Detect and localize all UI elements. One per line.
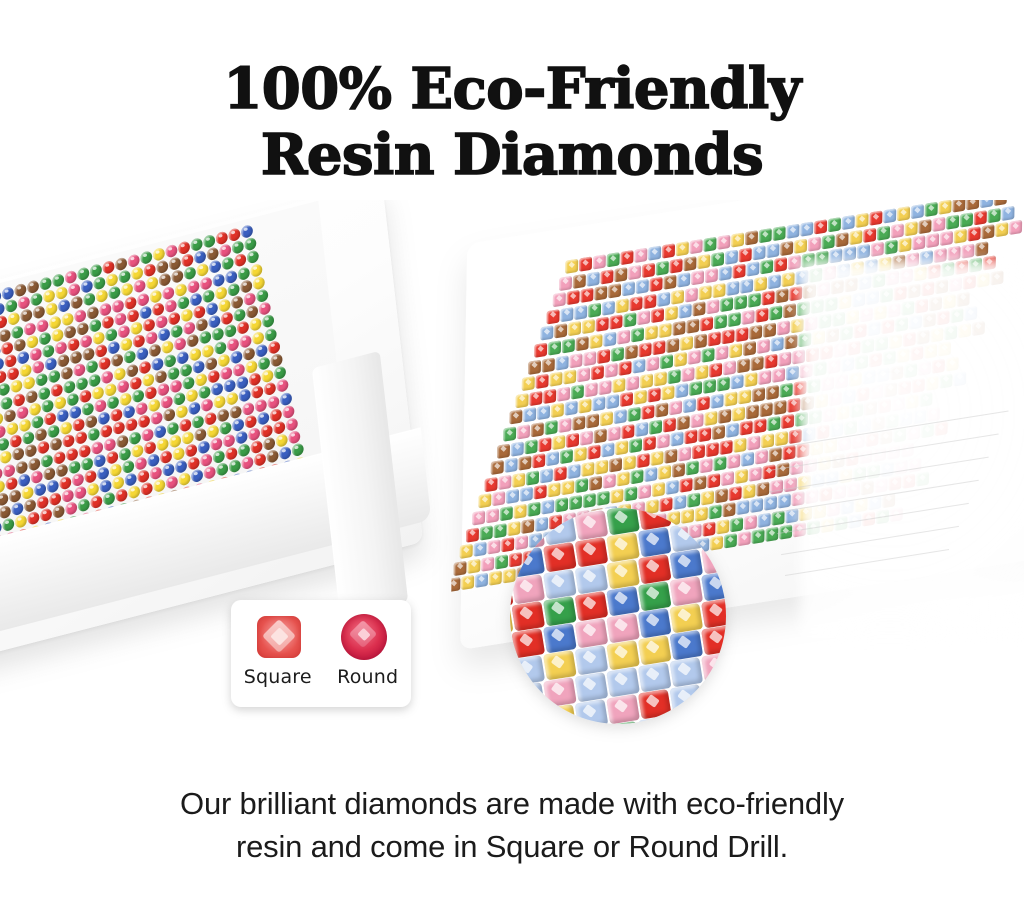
zoom-drill-square <box>543 650 577 680</box>
drill-square <box>548 340 561 355</box>
drill-square <box>495 554 508 569</box>
drill-square <box>542 357 555 372</box>
drill-square <box>520 487 533 502</box>
drill-square <box>577 367 590 382</box>
drill-square <box>472 510 485 525</box>
drill-square <box>648 388 661 403</box>
drill-square <box>891 223 904 238</box>
drill-square <box>651 308 664 323</box>
drill-square <box>786 366 799 381</box>
zoom-drill-square <box>575 591 609 621</box>
drill-square <box>624 486 637 501</box>
page-title: 100% Eco-Friendly Resin Diamonds <box>0 56 1024 188</box>
drill-square <box>975 241 988 256</box>
drill-square <box>731 232 744 247</box>
drill-square <box>713 456 726 471</box>
drill-type-gems <box>231 612 411 664</box>
drill-square <box>686 461 699 476</box>
drill-square <box>595 459 608 474</box>
drill-square <box>582 319 595 334</box>
drill-square <box>517 424 530 439</box>
drill-square <box>619 361 632 376</box>
drill-square <box>912 235 925 250</box>
drill-square <box>527 502 540 517</box>
drill-square <box>883 208 896 223</box>
drill-square <box>600 269 613 284</box>
drill-square <box>617 329 630 344</box>
drill-square <box>800 221 813 236</box>
drill-square <box>480 525 493 540</box>
drill-square <box>614 267 627 282</box>
drill-square <box>905 221 918 236</box>
drill-square <box>583 493 596 508</box>
zoom-drill-square <box>638 608 672 638</box>
drill-square <box>583 351 596 366</box>
drill-square <box>528 359 541 374</box>
drill-square <box>692 444 705 459</box>
drill-square <box>960 212 973 227</box>
drill-square <box>782 272 795 287</box>
drill-square <box>537 405 550 420</box>
zoom-drill-square <box>669 549 703 579</box>
drill-square <box>777 320 790 335</box>
drill-square <box>642 262 655 277</box>
drill-square <box>657 434 670 449</box>
drill-square <box>683 256 696 271</box>
drill-square <box>578 399 591 414</box>
drill-square <box>722 329 735 344</box>
drill-square <box>605 363 618 378</box>
drill-square <box>631 327 644 342</box>
zoom-drill-square <box>543 704 577 724</box>
drill-square <box>671 432 684 447</box>
drill-square <box>549 372 562 387</box>
zoom-drill-square <box>511 547 545 577</box>
drill-square <box>697 396 710 411</box>
drill-square <box>828 217 841 232</box>
drill-square <box>695 364 708 379</box>
drill-square <box>540 326 553 341</box>
zoom-drill-square <box>606 586 640 616</box>
zoom-drill-square <box>543 677 577 707</box>
drill-square <box>591 365 604 380</box>
drill-square <box>620 392 633 407</box>
drill-square <box>687 492 700 507</box>
drill-square <box>657 292 670 307</box>
drill-square <box>961 243 974 258</box>
drill-square <box>767 416 780 431</box>
drill-square <box>666 337 679 352</box>
drill-square <box>509 410 522 425</box>
drill-square <box>628 265 641 280</box>
drill-square <box>554 324 567 339</box>
drill-square <box>694 333 707 348</box>
zoom-drill-square <box>606 667 640 697</box>
zoom-drill-square <box>511 520 545 550</box>
drill-square <box>610 488 623 503</box>
zoom-drill-square <box>638 635 672 665</box>
drill-square <box>540 468 553 483</box>
drill-square <box>780 240 793 255</box>
drill-square <box>573 273 586 288</box>
zoom-drill-square <box>543 569 577 599</box>
drill-square <box>661 386 674 401</box>
drill-square <box>760 402 773 417</box>
zoom-drill-square <box>701 598 726 628</box>
drill-square <box>652 340 665 355</box>
drill-square <box>721 471 734 486</box>
tray-highlight-glare <box>800 260 1024 640</box>
drill-type-labels: Square Round <box>231 666 411 688</box>
drill-square <box>616 298 629 313</box>
zoom-drill-square <box>606 640 640 670</box>
drill-square <box>617 472 630 487</box>
drill-square <box>634 390 647 405</box>
drill-square <box>954 229 967 244</box>
drill-square <box>717 377 730 392</box>
drill-square <box>671 289 684 304</box>
drill-square <box>742 310 755 325</box>
drill-square <box>558 418 571 433</box>
drill-square <box>700 316 713 331</box>
drill-square <box>757 339 770 354</box>
drill-square <box>741 452 754 467</box>
zoom-drill-square <box>606 694 640 724</box>
drill-square <box>764 354 777 369</box>
zoom-drill-square <box>575 618 609 648</box>
drill-square <box>724 391 737 406</box>
drill-square <box>658 465 671 480</box>
drill-square <box>857 244 870 259</box>
drill-square <box>602 300 615 315</box>
drill-square <box>758 370 771 385</box>
drill-square <box>649 419 662 434</box>
drill-square <box>720 297 733 312</box>
drill-square <box>743 341 756 356</box>
drill-square <box>711 251 724 266</box>
zoom-drill-square <box>511 682 545 712</box>
drill-square <box>607 252 620 267</box>
drill-square <box>731 375 744 390</box>
drill-type-card[interactable]: Square Round <box>231 600 411 707</box>
drill-square <box>562 338 575 353</box>
drill-square <box>759 228 772 243</box>
drill-square <box>877 225 890 240</box>
zoom-drill-square <box>543 596 577 626</box>
drill-square <box>526 470 539 485</box>
drill-square <box>569 353 582 368</box>
drill-square <box>765 527 778 542</box>
drill-square <box>638 484 651 499</box>
drill-square <box>742 483 755 498</box>
zoom-drill-square <box>575 510 609 540</box>
drill-square <box>701 490 714 505</box>
zoom-drill-square <box>511 628 545 658</box>
drill-square <box>660 354 673 369</box>
drill-square <box>574 305 587 320</box>
drill-square <box>769 305 782 320</box>
zoom-drill-square <box>638 554 672 584</box>
drill-square <box>503 426 516 441</box>
drill-square <box>732 406 745 421</box>
drill-square <box>512 472 525 487</box>
drill-square <box>856 213 869 228</box>
drill-square <box>768 274 781 289</box>
drill-square <box>672 321 685 336</box>
drill-square <box>753 418 766 433</box>
drill-square <box>523 408 536 423</box>
drill-square <box>747 435 760 450</box>
drill-square <box>704 410 717 425</box>
zoom-drill-square <box>701 679 726 709</box>
drill-square <box>730 517 743 532</box>
zoom-drill-square <box>638 689 672 719</box>
drill-square <box>668 369 681 384</box>
drill-square <box>995 222 1008 237</box>
drill-square <box>762 291 775 306</box>
drill-square <box>643 294 656 309</box>
drill-square <box>684 429 697 444</box>
drill-square <box>946 214 959 229</box>
drill-square <box>659 323 672 338</box>
drill-square <box>745 230 758 245</box>
drill-square <box>594 286 607 301</box>
drill-square <box>609 457 622 472</box>
drill-square <box>974 210 987 225</box>
drill-square <box>926 233 939 248</box>
drill-square <box>608 283 621 298</box>
drill-square <box>709 362 722 377</box>
drill-square <box>634 248 647 263</box>
drill-square <box>740 278 753 293</box>
drill-square <box>635 421 648 436</box>
drill-square <box>454 561 467 576</box>
drill-square <box>753 245 766 260</box>
drill-square <box>644 467 657 482</box>
drill-square <box>749 324 762 339</box>
zoom-drill-square <box>606 532 640 562</box>
drill-square <box>692 302 705 317</box>
drill-square <box>871 242 884 257</box>
drill-square <box>630 296 643 311</box>
drill-square <box>623 455 636 470</box>
drill-square <box>703 237 716 252</box>
zoom-drill-square <box>638 581 672 611</box>
drill-square <box>663 417 676 432</box>
drill-square <box>681 367 694 382</box>
drill-square <box>588 302 601 317</box>
drill-square <box>715 488 728 503</box>
drill-square <box>639 342 652 357</box>
zoom-drill-square <box>606 559 640 589</box>
drill-square <box>697 254 710 269</box>
drill-square <box>589 476 602 491</box>
drill-square <box>575 478 588 493</box>
zoom-drill-square <box>669 603 703 633</box>
drill-square <box>780 383 793 398</box>
drill-square <box>719 266 732 281</box>
drill-square <box>461 575 474 590</box>
drill-square <box>652 482 665 497</box>
drill-square <box>749 467 762 482</box>
drill-square <box>579 257 592 272</box>
round-label: Round <box>337 666 398 688</box>
drill-square <box>778 494 791 509</box>
drill-square <box>898 238 911 253</box>
drill-square <box>726 281 739 296</box>
drill-square <box>968 227 981 242</box>
drill-square <box>750 498 763 513</box>
drill-square <box>585 382 598 397</box>
drill-square <box>773 399 786 414</box>
drill-square <box>764 496 777 511</box>
drill-square <box>707 473 720 488</box>
drill-square <box>610 315 623 330</box>
drill-square <box>752 529 765 544</box>
drill-square <box>547 309 560 324</box>
drill-square <box>699 285 712 300</box>
drill-square <box>489 571 502 586</box>
drill-square <box>734 295 747 310</box>
drill-square <box>580 288 593 303</box>
drill-square <box>1009 220 1022 235</box>
drill-square <box>688 350 701 365</box>
drill-square <box>581 461 594 476</box>
drill-square <box>532 453 545 468</box>
drill-square <box>836 232 849 247</box>
zoom-drill-square <box>701 517 726 547</box>
drill-square <box>538 437 551 452</box>
drill-square <box>918 219 931 234</box>
round-drill-tray <box>0 240 410 600</box>
drill-square <box>498 475 511 490</box>
zoom-drill-square <box>575 537 609 567</box>
drill-square <box>729 343 742 358</box>
zoom-drill-square <box>543 542 577 572</box>
drill-square <box>952 200 965 213</box>
drill-square <box>665 306 678 321</box>
drill-square <box>761 433 774 448</box>
headline-line-1: 100% Eco-Friendly <box>0 56 1024 122</box>
zoom-drill-square <box>511 601 545 631</box>
drill-square <box>529 391 542 406</box>
drill-square <box>621 424 634 439</box>
drill-square <box>567 290 580 305</box>
drill-square <box>572 416 585 431</box>
caption: Our brilliant diamonds are made with eco… <box>0 782 1024 868</box>
drill-square <box>689 381 702 396</box>
drill-square <box>693 475 706 490</box>
drill-square <box>980 200 993 208</box>
drill-square <box>486 508 499 523</box>
drill-square <box>606 394 619 409</box>
drill-square <box>690 239 703 254</box>
drill-square <box>685 287 698 302</box>
drill-square <box>566 432 579 447</box>
drill-square <box>729 486 742 501</box>
drill-square <box>744 515 757 530</box>
drill-square <box>637 453 650 468</box>
drill-square <box>623 313 636 328</box>
drill-square <box>632 359 645 374</box>
drill-square <box>728 312 741 327</box>
drill-square <box>603 332 616 347</box>
drill-square <box>601 443 614 458</box>
drill-square <box>774 257 787 272</box>
drill-square <box>932 216 945 231</box>
caption-line-2: resin and come in Square or Round Drill. <box>0 825 1024 868</box>
drill-square <box>775 431 788 446</box>
drill-square <box>676 241 689 256</box>
drill-square <box>467 559 480 574</box>
drill-square <box>911 204 924 219</box>
zoom-detail-circle <box>510 508 726 724</box>
drill-square <box>600 411 613 426</box>
drill-square <box>940 231 953 246</box>
drill-square <box>706 442 719 457</box>
drill-square <box>738 531 751 546</box>
drill-square <box>737 358 750 373</box>
drill-square <box>475 573 488 588</box>
drill-square <box>746 404 759 419</box>
drill-square <box>543 389 556 404</box>
drill-square <box>966 200 979 210</box>
drill-square <box>714 314 727 329</box>
drill-square <box>773 226 786 241</box>
drill-square <box>534 485 547 500</box>
drill-square <box>775 289 788 304</box>
drill-square <box>568 321 581 336</box>
drill-square <box>599 380 612 395</box>
drill-square <box>784 335 797 350</box>
drill-square <box>679 304 692 319</box>
drill-square <box>563 370 576 385</box>
drill-square <box>897 206 910 221</box>
drill-square <box>650 451 663 466</box>
caption-line-1: Our brilliant diamonds are made with eco… <box>0 782 1024 825</box>
zoom-drill-square <box>701 652 726 682</box>
drill-square <box>680 335 693 350</box>
drill-square <box>794 238 807 253</box>
drill-square <box>771 337 784 352</box>
zoom-drill-square <box>638 527 672 557</box>
drill-square <box>565 259 578 274</box>
square-label: Square <box>244 666 312 688</box>
drill-square <box>735 469 748 484</box>
drill-square <box>842 215 855 230</box>
square-gem-icon <box>257 616 301 658</box>
drill-square <box>788 255 801 270</box>
drill-square <box>720 440 733 455</box>
zoom-drill-square <box>701 625 726 655</box>
drill-square <box>560 307 573 322</box>
drill-square <box>511 441 524 456</box>
zoom-drill-square <box>669 522 703 552</box>
drill-square <box>547 483 560 498</box>
drill-square <box>672 463 685 478</box>
drill-square <box>559 275 572 290</box>
drill-square <box>568 464 581 479</box>
drill-square <box>588 445 601 460</box>
drill-square <box>677 273 690 288</box>
zoom-drill-square <box>701 571 726 601</box>
drill-square <box>712 283 725 298</box>
drill-square <box>712 425 725 440</box>
drill-square <box>740 421 753 436</box>
drill-square <box>778 351 791 366</box>
drill-square <box>727 454 740 469</box>
drill-square <box>733 437 746 452</box>
